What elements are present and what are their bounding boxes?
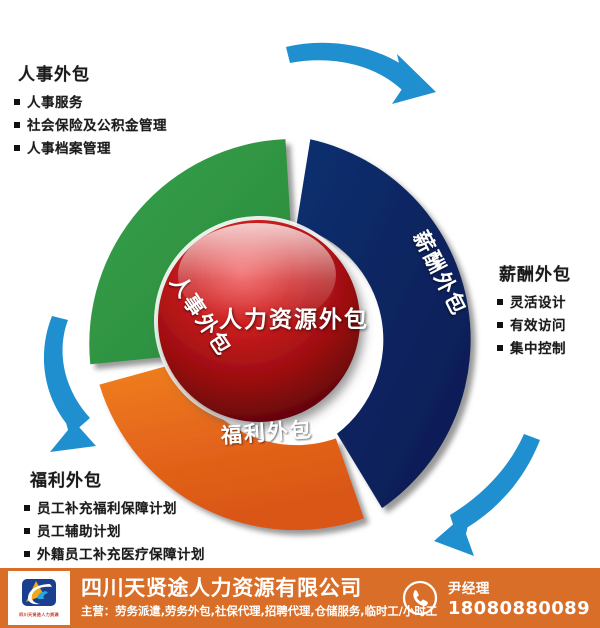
footer-contact[interactable]: 尹经理 18080880089 [401,577,590,619]
company-name: 四川天贤途人力资源有限公司 [81,577,401,601]
contact-phone[interactable]: 18080880089 [448,598,590,619]
list-item-label: 人事服务 [27,95,83,111]
bullet-icon [14,145,20,151]
list-item-label: 社会保险及公积金管理 [27,118,167,134]
list-item-label: 人事档案管理 [27,141,111,157]
text-block-hr: 人事外包 人事服务 社会保险及公积金管理 人事档案管理 [14,60,167,162]
text-block-hr-list: 人事服务 社会保险及公积金管理 人事档案管理 [14,92,167,162]
list-item-label: 集中控制 [510,341,566,357]
list-item: 社会保险及公积金管理 [14,115,167,138]
text-block-welfare: 福利外包 员工补充福利保障计划 员工辅助计划 外籍员工补充医疗保障计划 [24,466,205,568]
list-item-label: 员工补充福利保障计划 [37,501,177,517]
list-item: 集中控制 [497,338,571,361]
list-item: 员工辅助计划 [24,521,205,544]
bullet-icon [24,528,30,534]
bullet-icon [24,551,30,557]
list-item: 人事档案管理 [14,138,167,161]
text-block-payroll: 薪酬外包 灵活设计 有效访问 集中控制 [497,260,571,362]
footer-banner: 四川天贤途人力资源 四川天贤途人力资源有限公司 主营：劳务派遣,劳务外包,社保代… [0,568,600,628]
logo-mark-icon [16,578,62,610]
list-item-label: 员工辅助计划 [37,524,121,540]
list-item: 人事服务 [14,92,167,115]
list-item: 灵活设计 [497,292,571,315]
bullet-icon [497,345,503,351]
bullet-icon [497,299,503,305]
text-block-welfare-title: 福利外包 [30,466,205,491]
contact-name: 尹经理 [448,577,590,597]
company-logo: 四川天贤途人力资源 [8,571,70,625]
list-item: 外籍员工补充医疗保障计划 [24,544,205,567]
business-scope: 主营：劳务派遣,劳务外包,社保代理,招聘代理,仓储服务,临时工/小时工 [81,603,401,619]
list-item: 有效访问 [497,315,571,338]
core-sphere[interactable] [154,216,364,426]
bullet-icon [14,122,20,128]
text-block-hr-title: 人事外包 [18,60,167,85]
text-block-payroll-list: 灵活设计 有效访问 集中控制 [497,292,571,362]
list-item-label: 灵活设计 [510,295,566,311]
bullet-icon [497,322,503,328]
list-item-label: 外籍员工补充医疗保障计划 [37,547,205,563]
text-block-welfare-list: 员工补充福利保障计划 员工辅助计划 外籍员工补充医疗保障计划 [24,498,205,568]
text-block-payroll-title: 薪酬外包 [499,260,571,285]
list-item-label: 有效访问 [510,318,566,334]
logo-text: 四川天贤途人力资源 [19,612,59,618]
contact-text: 尹经理 18080880089 [448,577,590,619]
phone-icon [401,579,439,617]
footer-company-info: 四川天贤途人力资源有限公司 主营：劳务派遣,劳务外包,社保代理,招聘代理,仓储服… [81,577,401,620]
infographic-canvas: 人事外包 薪酬外包 福利外包 人力资源外包 人事外包 人事服务 社会保险及公积金… [0,0,600,628]
list-item: 员工补充福利保障计划 [24,498,205,521]
bullet-icon [24,505,30,511]
bullet-icon [14,99,20,105]
